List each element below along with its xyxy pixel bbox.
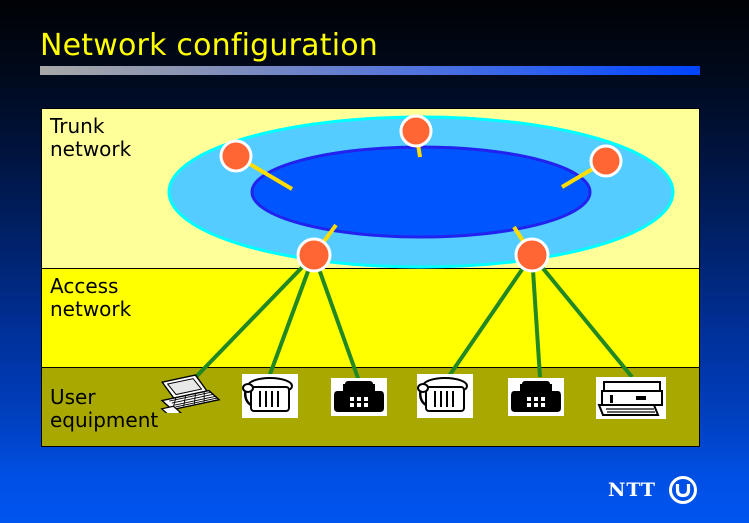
node-lower-left[interactable]	[298, 239, 330, 271]
band-label-access: Access network	[50, 275, 131, 321]
node-upper-right[interactable]	[591, 146, 621, 176]
access-link-3	[314, 255, 359, 381]
device-telephone-black-2[interactable]	[508, 378, 564, 416]
device-telephone-white-1[interactable]	[242, 374, 298, 418]
page-title: Network configuration	[40, 31, 378, 61]
title-divider-bar	[40, 66, 700, 75]
device-telephone-white-2[interactable]	[417, 374, 473, 418]
access-links	[192, 255, 632, 381]
trunk-core-ellipse	[252, 147, 590, 237]
access-link-4	[447, 255, 532, 379]
node-upper-left[interactable]	[221, 141, 251, 171]
slide: Network configuration	[0, 0, 749, 523]
ntt-logomark-icon	[668, 475, 698, 505]
node-lower-right[interactable]	[516, 239, 548, 271]
device-fax-machine[interactable]	[596, 377, 666, 419]
device-telephone-black-1[interactable]	[331, 378, 387, 416]
access-link-2	[269, 255, 314, 377]
access-link-5	[532, 255, 540, 377]
access-link-6	[532, 255, 632, 377]
network-diagram-panel: Trunk network Access network User equipm…	[41, 108, 700, 447]
node-top[interactable]	[401, 116, 431, 146]
band-label-user: User equipment	[50, 386, 158, 432]
band-label-trunk: Trunk network	[50, 115, 131, 161]
ntt-wordmark: NTT	[608, 481, 656, 500]
access-link-1	[192, 255, 314, 381]
ntt-logo: NTT	[608, 475, 698, 505]
device-laptop[interactable]	[155, 373, 221, 413]
